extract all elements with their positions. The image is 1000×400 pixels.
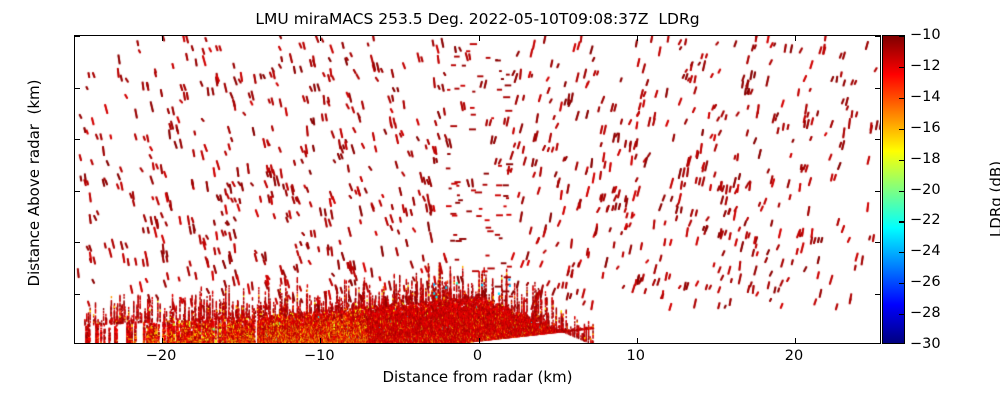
colorbar-tick-label: −30 [910,336,941,352]
colorbar-tick-mark [899,191,904,192]
colorbar-tick-mark [899,252,904,253]
radar-rhi-figure: LMU miraMACS 253.5 Deg. 2022-05-10T09:08… [0,0,1000,400]
y-tick-mark [75,191,80,192]
y-tick-mark [875,294,880,295]
colorbar-tick-mark [899,129,904,130]
x-tick-mark [479,338,480,343]
y-tick-mark [75,139,80,140]
x-tick-label: −10 [304,348,335,364]
colorbar-tick-label: −16 [910,120,941,136]
x-tick-label: −20 [146,348,177,364]
x-tick-mark [795,338,796,343]
x-tick-mark [320,338,321,343]
colorbar-tick-label: −20 [910,182,941,198]
data-scatter-canvas [75,36,880,343]
x-tick-mark [637,338,638,343]
y-tick-mark [75,88,80,89]
colorbar-tick-label: −10 [910,27,941,43]
colorbar-tick-mark [899,283,904,284]
y-tick-mark [875,88,880,89]
colorbar-label: LDRg (dB) [987,89,1000,309]
colorbar-tick-label: −12 [910,58,941,74]
colorbar-tick-mark [899,98,904,99]
colorbar-tick-mark [899,67,904,68]
x-tick-mark [795,36,796,41]
plot-area [74,35,881,344]
y-axis-label: Distance Above radar (km) [25,23,43,343]
x-axis-label: Distance from radar (km) [74,368,881,386]
colorbar-tick-mark [899,221,904,222]
colorbar-tick-mark [899,160,904,161]
x-tick-mark [479,36,480,41]
x-tick-mark [637,36,638,41]
colorbar-tick-mark [899,314,904,315]
colorbar-tick-label: −14 [910,89,941,105]
page-title: LMU miraMACS 253.5 Deg. 2022-05-10T09:08… [74,10,881,28]
x-tick-label: 10 [627,348,645,364]
x-tick-label: 0 [473,348,482,364]
y-tick-mark [875,139,880,140]
y-tick-mark [875,191,880,192]
y-tick-mark [75,294,80,295]
colorbar-gradient [883,36,904,343]
colorbar-tick-label: −24 [910,243,941,259]
colorbar-tick-mark [899,36,904,37]
colorbar [882,35,905,344]
y-tick-mark [75,36,80,37]
y-tick-mark [75,242,80,243]
x-tick-label: 20 [785,348,803,364]
colorbar-tick-label: −18 [910,151,941,167]
y-tick-mark [875,242,880,243]
x-tick-mark [320,36,321,41]
x-tick-mark [162,36,163,41]
colorbar-tick-label: −26 [910,274,941,290]
colorbar-tick-label: −22 [910,212,941,228]
colorbar-tick-label: −28 [910,305,941,321]
y-tick-mark [875,36,880,37]
x-tick-mark [162,338,163,343]
